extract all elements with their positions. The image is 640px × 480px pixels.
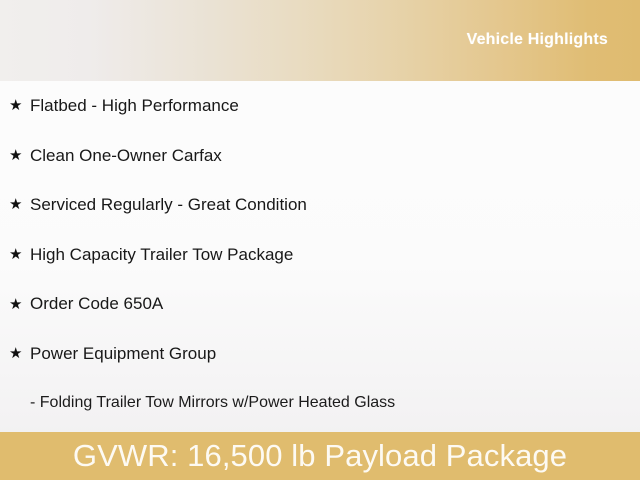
list-item-sub-label: - Folding Trailer Tow Mirrors w/Power He… [30,394,395,412]
star-bullet-icon: ★ [9,247,30,262]
header-banner: Vehicle Highlights [0,0,640,81]
list-item: ★ High Capacity Trailer Tow Package [0,230,640,280]
list-item-label: Serviced Regularly - Great Condition [30,195,307,215]
footer-banner: GVWR: 16,500 lb Payload Package [0,432,640,480]
star-bullet-icon: ★ [9,98,30,113]
star-bullet-icon: ★ [9,297,30,312]
list-item: ★ Serviced Regularly - Great Condition [0,180,640,230]
list-item-label: Flatbed - High Performance [30,96,239,116]
star-bullet-icon: ★ [9,346,30,361]
list-item-label: Clean One-Owner Carfax [30,146,222,166]
list-item: ★ Power Equipment Group [0,329,640,379]
star-bullet-icon: ★ [9,197,30,212]
vehicle-highlights-list: ★ Flatbed - High Performance ★ Clean One… [0,81,640,428]
list-item: ★ Order Code 650A [0,279,640,329]
list-item: ★ Flatbed - High Performance [0,81,640,131]
page-title: Vehicle Highlights [467,32,608,49]
payload-package-label: GVWR: 16,500 lb Payload Package [73,440,567,473]
list-item-label: Order Code 650A [30,294,163,314]
highlights-body: ★ Flatbed - High Performance ★ Clean One… [0,81,640,432]
star-bullet-icon: ★ [9,148,30,163]
vehicle-highlights-card: Vehicle Highlights ★ Flatbed - High Perf… [0,0,640,480]
list-item-label: High Capacity Trailer Tow Package [30,245,293,265]
list-item-sub: - Folding Trailer Tow Mirrors w/Power He… [0,379,640,429]
list-item: ★ Clean One-Owner Carfax [0,131,640,181]
list-item-label: Power Equipment Group [30,344,216,364]
